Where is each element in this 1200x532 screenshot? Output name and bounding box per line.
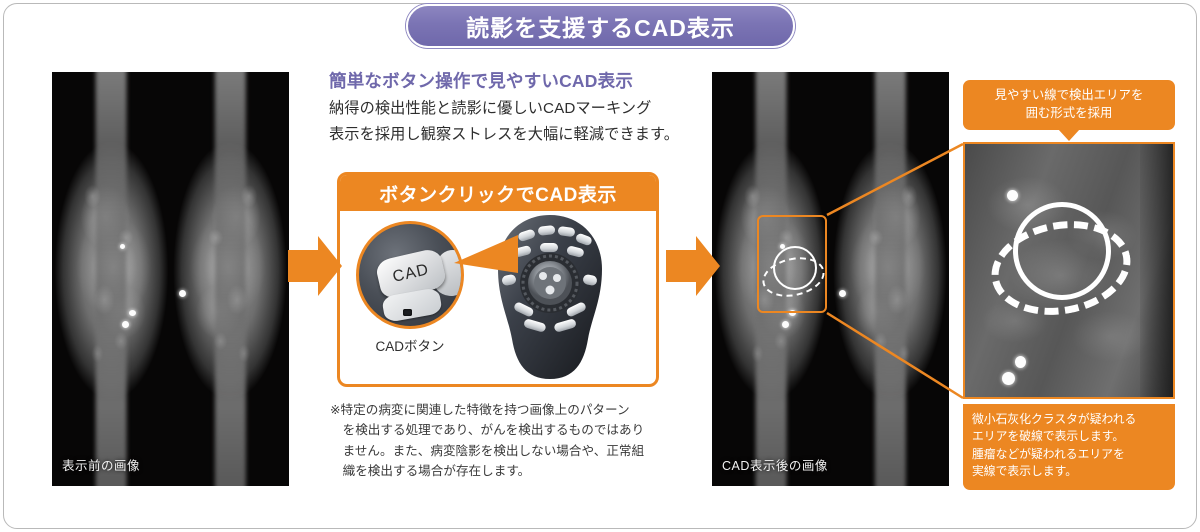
calcification-dot	[1007, 190, 1018, 201]
zoom-detail-panel	[963, 142, 1175, 399]
center-body-line2: 表示を採用し観察ストレスを大幅に軽減できます。	[329, 123, 695, 146]
callout-top-line1: 見やすい線で検出エリアを	[971, 87, 1167, 105]
disclaimer-line4: 織を検出する場合が存在します。	[330, 461, 698, 481]
callout-tail	[1058, 129, 1080, 141]
disclaimer-note: ※特定の病変に関連した特徴を持つ画像上のパターン を検出する処理であり、がんを検…	[330, 400, 698, 482]
center-heading: 簡単なボタン操作で見やすいCAD表示	[329, 70, 695, 94]
right-block-arrow	[288, 236, 342, 301]
breast-right	[831, 72, 950, 486]
magnifier-connector	[452, 233, 522, 302]
breast-left	[52, 72, 171, 486]
cad-marking-solid-circle-detail	[1013, 202, 1111, 300]
page-title: 読影を支援するCAD表示	[466, 9, 735, 43]
callout-marking-legend: 微小石灰化クラスタが疑われる エリアを破線で表示します。 腫瘤などが疑われるエリ…	[963, 404, 1175, 490]
callout-detection-area: 見やすい線で検出エリアを 囲む形式を採用	[963, 80, 1175, 130]
center-heading-block: 簡単なボタン操作で見やすいCAD表示 納得の検出性能と読影に優しいCADマーキン…	[329, 70, 695, 146]
right-block-arrow	[666, 236, 720, 301]
cad-key-label: CAD	[391, 261, 431, 287]
calcification-dot	[839, 290, 846, 297]
cad-panel-body: CAD CADボタン	[340, 211, 656, 384]
center-body-line1: 納得の検出性能と読影に優しいCADマーキング	[329, 97, 695, 120]
callout-bottom-line4: 実線で表示します。	[972, 463, 1166, 480]
calcification-dot	[1015, 356, 1026, 368]
disclaimer-line3: ません。また、病変陰影を検出しない場合や、正常組	[330, 441, 698, 461]
cad-panel-header: ボタンクリックでCAD表示	[340, 175, 656, 211]
device-led	[403, 309, 412, 316]
calcification-dot	[129, 310, 136, 316]
cad-infographic: 読影を支援するCAD表示 表示前の画像 簡単なボタン操作で見やすいCAD表示 納…	[0, 0, 1200, 532]
calcification-dot	[122, 321, 129, 328]
cad-button-panel: ボタンクリックでCAD表示 CAD CADボタン	[337, 172, 659, 387]
callout-bottom-line2: エリアを破線で表示します。	[972, 428, 1166, 445]
cad-button-caption: CADボタン	[346, 335, 474, 355]
disclaimer-line2: を検出する処理であり、がんを検出するものではあり	[330, 420, 698, 440]
calcification-dot	[1002, 372, 1015, 385]
callout-bottom-line3: 腫瘤などが疑われるエリアを	[972, 446, 1166, 463]
page-title-banner: 読影を支援するCAD表示	[406, 4, 795, 48]
callout-top-line2: 囲む形式を採用	[971, 105, 1167, 123]
calcification-dot	[179, 290, 186, 297]
calcification-dot	[782, 321, 789, 328]
breast-right	[171, 72, 290, 486]
mammogram-before-caption: 表示前の画像	[62, 455, 140, 474]
cad-marking-solid-circle	[773, 246, 817, 290]
mammogram-after-caption: CAD表示後の画像	[722, 455, 828, 474]
cad-panel-header-label: ボタンクリックでCAD表示	[379, 180, 617, 207]
mammogram-after: CAD表示後の画像	[712, 72, 949, 486]
cad-button-magnifier: CAD	[356, 221, 464, 329]
mammogram-before: 表示前の画像	[52, 72, 289, 486]
calcification-dot	[120, 244, 125, 249]
callout-bottom-line1: 微小石灰化クラスタが疑われる	[972, 411, 1166, 428]
disclaimer-line1: ※特定の病変に関連した特徴を持つ画像上のパターン	[330, 400, 698, 420]
